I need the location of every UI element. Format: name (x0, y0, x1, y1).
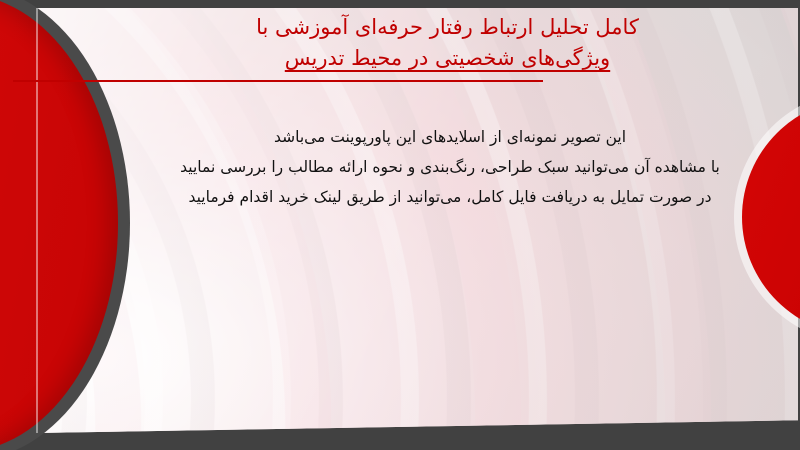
slide-body-text: این تصویر نمونه‌ای از اسلایدهای این پاور… (140, 122, 760, 212)
body-line-1: این تصویر نمونه‌ای از اسلایدهای این پاور… (140, 122, 760, 152)
body-line-3: در صورت تمایل به دریافت فایل کامل، می‌تو… (140, 182, 760, 212)
presentation-slide: کامل تحلیل ارتباط رفتار حرفه‌ای آموزشی ب… (0, 0, 800, 450)
body-line-2: با مشاهده آن می‌توانید سبک طراحی، رنگ‌بن… (140, 152, 760, 182)
slide-title: کامل تحلیل ارتباط رفتار حرفه‌ای آموزشی ب… (120, 12, 775, 74)
title-line-1: کامل تحلیل ارتباط رفتار حرفه‌ای آموزشی ب… (120, 12, 775, 43)
panel-left-highlight (36, 8, 38, 433)
title-underline-rule (13, 80, 543, 82)
title-line-2: ویژگی‌های شخصیتی در محیط تدریس (120, 43, 775, 74)
